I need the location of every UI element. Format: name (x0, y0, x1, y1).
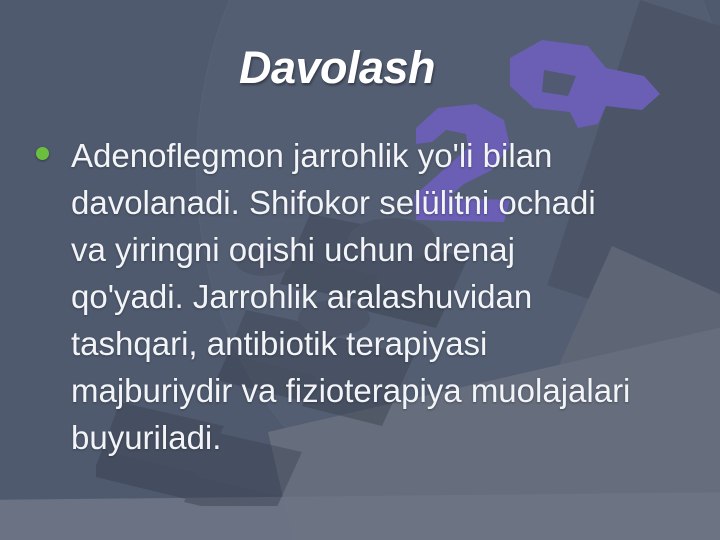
bullet-list-item: Adenoflegmon jarrohlik yo'li bilan davol… (36, 132, 636, 461)
slide-content: Davolash Adenoflegmon jarrohlik yo'li bi… (0, 0, 720, 540)
slide-title: Davolash (0, 40, 720, 96)
green-dot-bullet-icon (36, 147, 49, 160)
bullet-item-text: Adenoflegmon jarrohlik yo'li bilan davol… (71, 132, 636, 461)
presentation-slide: Davolash Adenoflegmon jarrohlik yo'li bi… (0, 0, 720, 540)
